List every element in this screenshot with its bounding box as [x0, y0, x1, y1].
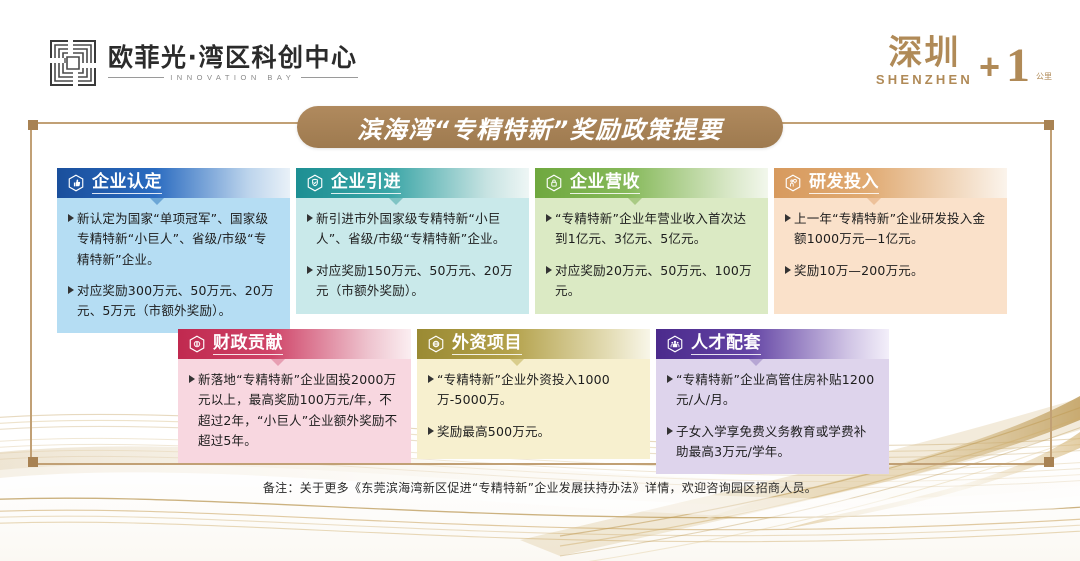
coin-hexagon-icon [188, 335, 206, 353]
bullet-item: 子女入学享免费义务教育或学费补助最高3万元/学年。 [667, 422, 877, 463]
card-body-talent-support: “专精特新”企业高管住房补贴1200元/人/月。子女入学享免费义务教育或学费补助… [656, 359, 889, 474]
divider-left [108, 77, 164, 78]
policy-card-row-bottom: 财政贡献新落地“专精特新”企业固投2000万元以上，最高奖励100万元/年，不超… [178, 329, 889, 474]
policy-card-enterprise-recognition: 企业认定新认定为国家“单项冠军”、国家级专精特新“小巨人”、省级/市级“专精特新… [57, 168, 290, 333]
triangle-bullet-icon [546, 266, 552, 274]
bullet-item: 对应奖励20万元、50万元、100万元。 [546, 261, 756, 302]
policy-card-enterprise-introduction: 企业引进新引进市外国家级专精特新“小巨人”、省级/市级“专精特新”企业。对应奖励… [296, 168, 529, 333]
title-banner: 滨海湾“专精特新”奖励政策提要 [297, 106, 783, 148]
policy-card-row-top: 企业认定新认定为国家“单项冠军”、国家级专精特新“小巨人”、省级/市级“专精特新… [57, 168, 1007, 333]
triangle-bullet-icon [785, 214, 791, 222]
policy-card-enterprise-revenue: 企业营收“专精特新”企业年营业收入首次达到1亿元、3亿元、5亿元。对应奖励20万… [535, 168, 768, 333]
card-header-fiscal-contribution: 财政贡献 [178, 329, 411, 359]
bullet-text: 子女入学享免费义务教育或学费补助最高3万元/学年。 [676, 422, 877, 463]
card-title: 财政贡献 [213, 333, 283, 355]
card-header-foreign-investment-project: 外资项目 [417, 329, 650, 359]
shenzhen-wordmark: 深圳 SHENZHEN [876, 36, 973, 87]
brand-name-en-row: INNOVATION BAY [108, 73, 358, 82]
bullet-text: 奖励最高500万元。 [437, 422, 550, 442]
bullet-text: 对应奖励20万元、50万元、100万元。 [555, 261, 756, 302]
bullet-text: “专精特新”企业外资投入1000万-5000万。 [437, 370, 638, 411]
bullet-item: 奖励最高500万元。 [428, 422, 638, 442]
spiral-square-logo-icon [48, 38, 98, 88]
frame-corner-topright [1044, 120, 1054, 130]
infographic-root: 欧菲光·湾区科创中心 INNOVATION BAY 深圳 SHENZHEN + … [0, 0, 1080, 561]
frame-corner-bottomleft [28, 457, 38, 467]
bullet-item: 新引进市外国家级专精特新“小巨人”、省级/市级“专精特新”企业。 [307, 209, 517, 250]
bullet-item: 奖励10万—200万元。 [785, 261, 995, 281]
header-notch-icon [389, 198, 403, 205]
card-body-enterprise-introduction: 新引进市外国家级专精特新“小巨人”、省级/市级“专精特新”企业。对应奖励150万… [296, 198, 529, 314]
brand-name-cn: 欧菲光·湾区科创中心 [108, 44, 358, 72]
header: 欧菲光·湾区科创中心 INNOVATION BAY 深圳 SHENZHEN + … [0, 0, 1080, 108]
globe-hexagon-icon [427, 335, 445, 353]
card-header-talent-support: 人才配套 [656, 329, 889, 359]
plus-symbol: + [979, 49, 1000, 85]
frame-corner-topleft [28, 120, 38, 130]
triangle-bullet-icon [428, 375, 434, 383]
bullet-item: 新落地“专精特新”企业固投2000万元以上，最高奖励100万元/年，不超过2年，… [189, 370, 399, 451]
card-header-enterprise-introduction: 企业引进 [296, 168, 529, 198]
bullet-text: 奖励10万—200万元。 [794, 261, 924, 281]
card-title: 研发投入 [809, 172, 879, 194]
card-body-enterprise-revenue: “专精特新”企业年营业收入首次达到1亿元、3亿元、5亿元。对应奖励20万元、50… [535, 198, 768, 314]
bullet-text: 新认定为国家“单项冠军”、国家级专精特新“小巨人”、省级/市级“专精特新”企业。 [77, 209, 278, 270]
policy-card-rd-investment: 研发投入上一年“专精特新”企业研发投入金额1000万元—1亿元。奖励10万—20… [774, 168, 1007, 333]
card-body-foreign-investment-project: “专精特新”企业外资投入1000万-5000万。奖励最高500万元。 [417, 359, 650, 459]
card-body-fiscal-contribution: 新落地“专精特新”企业固投2000万元以上，最高奖励100万元/年，不超过2年，… [178, 359, 411, 463]
card-title: 人才配套 [691, 333, 761, 355]
bullet-item: “专精特新”企业外资投入1000万-5000万。 [428, 370, 638, 411]
card-header-enterprise-revenue: 企业营收 [535, 168, 768, 198]
shenzhen-en: SHENZHEN [876, 72, 973, 87]
triangle-bullet-icon [667, 375, 673, 383]
bullet-item: 新认定为国家“单项冠军”、国家级专精特新“小巨人”、省级/市级“专精特新”企业。 [68, 209, 278, 270]
shenzhen-cn: 深圳 [888, 36, 960, 70]
bullet-text: 对应奖励300万元、50万元、20万元、5万元（市额外奖励）。 [77, 281, 278, 322]
card-header-enterprise-recognition: 企业认定 [57, 168, 290, 198]
triangle-bullet-icon [428, 427, 434, 435]
card-body-enterprise-recognition: 新认定为国家“单项冠军”、国家级专精特新“小巨人”、省级/市级“专精特新”企业。… [57, 198, 290, 333]
header-notch-icon [749, 359, 763, 366]
triangle-bullet-icon [307, 266, 313, 274]
triangle-bullet-icon [546, 214, 552, 222]
thumbs-up-hexagon-icon [67, 174, 85, 192]
people-hexagon-icon [666, 335, 684, 353]
header-notch-icon [867, 198, 881, 205]
policy-card-foreign-investment-project: 外资项目“专精特新”企业外资投入1000万-5000万。奖励最高500万元。 [417, 329, 650, 474]
unit-kilometer: 公里 [1036, 73, 1052, 81]
triangle-bullet-icon [189, 375, 195, 383]
card-title: 企业营收 [570, 172, 640, 194]
bullet-text: 上一年“专精特新”企业研发投入金额1000万元—1亿元。 [794, 209, 995, 250]
card-title: 企业引进 [331, 172, 401, 194]
bullet-text: “专精特新”企业年营业收入首次达到1亿元、3亿元、5亿元。 [555, 209, 756, 250]
bullet-text: 对应奖励150万元、50万元、20万元（市额外奖励）。 [316, 261, 517, 302]
footnote: 备注：关于更多《东莞滨海湾新区促进“专精特新”企业发展扶持办法》详情，欢迎咨询园… [0, 479, 1080, 496]
header-notch-icon [150, 198, 164, 205]
lock-hexagon-icon [545, 174, 563, 192]
header-notch-icon [271, 359, 285, 366]
policy-card-fiscal-contribution: 财政贡献新落地“专精特新”企业固投2000万元以上，最高奖励100万元/年，不超… [178, 329, 411, 474]
bullet-text: 新落地“专精特新”企业固投2000万元以上，最高奖励100万元/年，不超过2年，… [198, 370, 399, 451]
page-title: 滨海湾“专精特新”奖励政策提要 [357, 110, 722, 145]
triangle-bullet-icon [785, 266, 791, 274]
triangle-bullet-icon [307, 214, 313, 222]
card-header-rd-investment: 研发投入 [774, 168, 1007, 198]
bullet-text: “专精特新”企业高管住房补贴1200元/人/月。 [676, 370, 877, 411]
header-notch-icon [510, 359, 524, 366]
bullet-item: 对应奖励150万元、50万元、20万元（市额外奖励）。 [307, 261, 517, 302]
header-notch-icon [628, 198, 642, 205]
frame-corner-bottomright [1044, 457, 1054, 467]
card-title: 外资项目 [452, 333, 522, 355]
bullet-item: “专精特新”企业高管住房补贴1200元/人/月。 [667, 370, 877, 411]
triangle-bullet-icon [68, 286, 74, 294]
triangle-bullet-icon [667, 427, 673, 435]
brand-name-en: INNOVATION BAY [170, 73, 295, 82]
number-one: 1 [1006, 44, 1030, 87]
bullet-text: 新引进市外国家级专精特新“小巨人”、省级/市级“专精特新”企业。 [316, 209, 517, 250]
policy-card-talent-support: 人才配套“专精特新”企业高管住房补贴1200元/人/月。子女入学享免费义务教育或… [656, 329, 889, 474]
shenzhen-plus-one-logo: 深圳 SHENZHEN + 1 公里 [876, 36, 1052, 87]
card-title: 企业认定 [92, 172, 162, 194]
bullet-item: “专精特新”企业年营业收入首次达到1亿元、3亿元、5亿元。 [546, 209, 756, 250]
bullet-item: 对应奖励300万元、50万元、20万元、5万元（市额外奖励）。 [68, 281, 278, 322]
brand-logo-left: 欧菲光·湾区科创中心 INNOVATION BAY [48, 38, 358, 88]
bullet-item: 上一年“专精特新”企业研发投入金额1000万元—1亿元。 [785, 209, 995, 250]
lightbulb-person-hexagon-icon [784, 174, 802, 192]
shield-check-hexagon-icon [306, 174, 324, 192]
triangle-bullet-icon [68, 214, 74, 222]
divider-right [301, 77, 357, 78]
card-body-rd-investment: 上一年“专精特新”企业研发投入金额1000万元—1亿元。奖励10万—200万元。 [774, 198, 1007, 314]
